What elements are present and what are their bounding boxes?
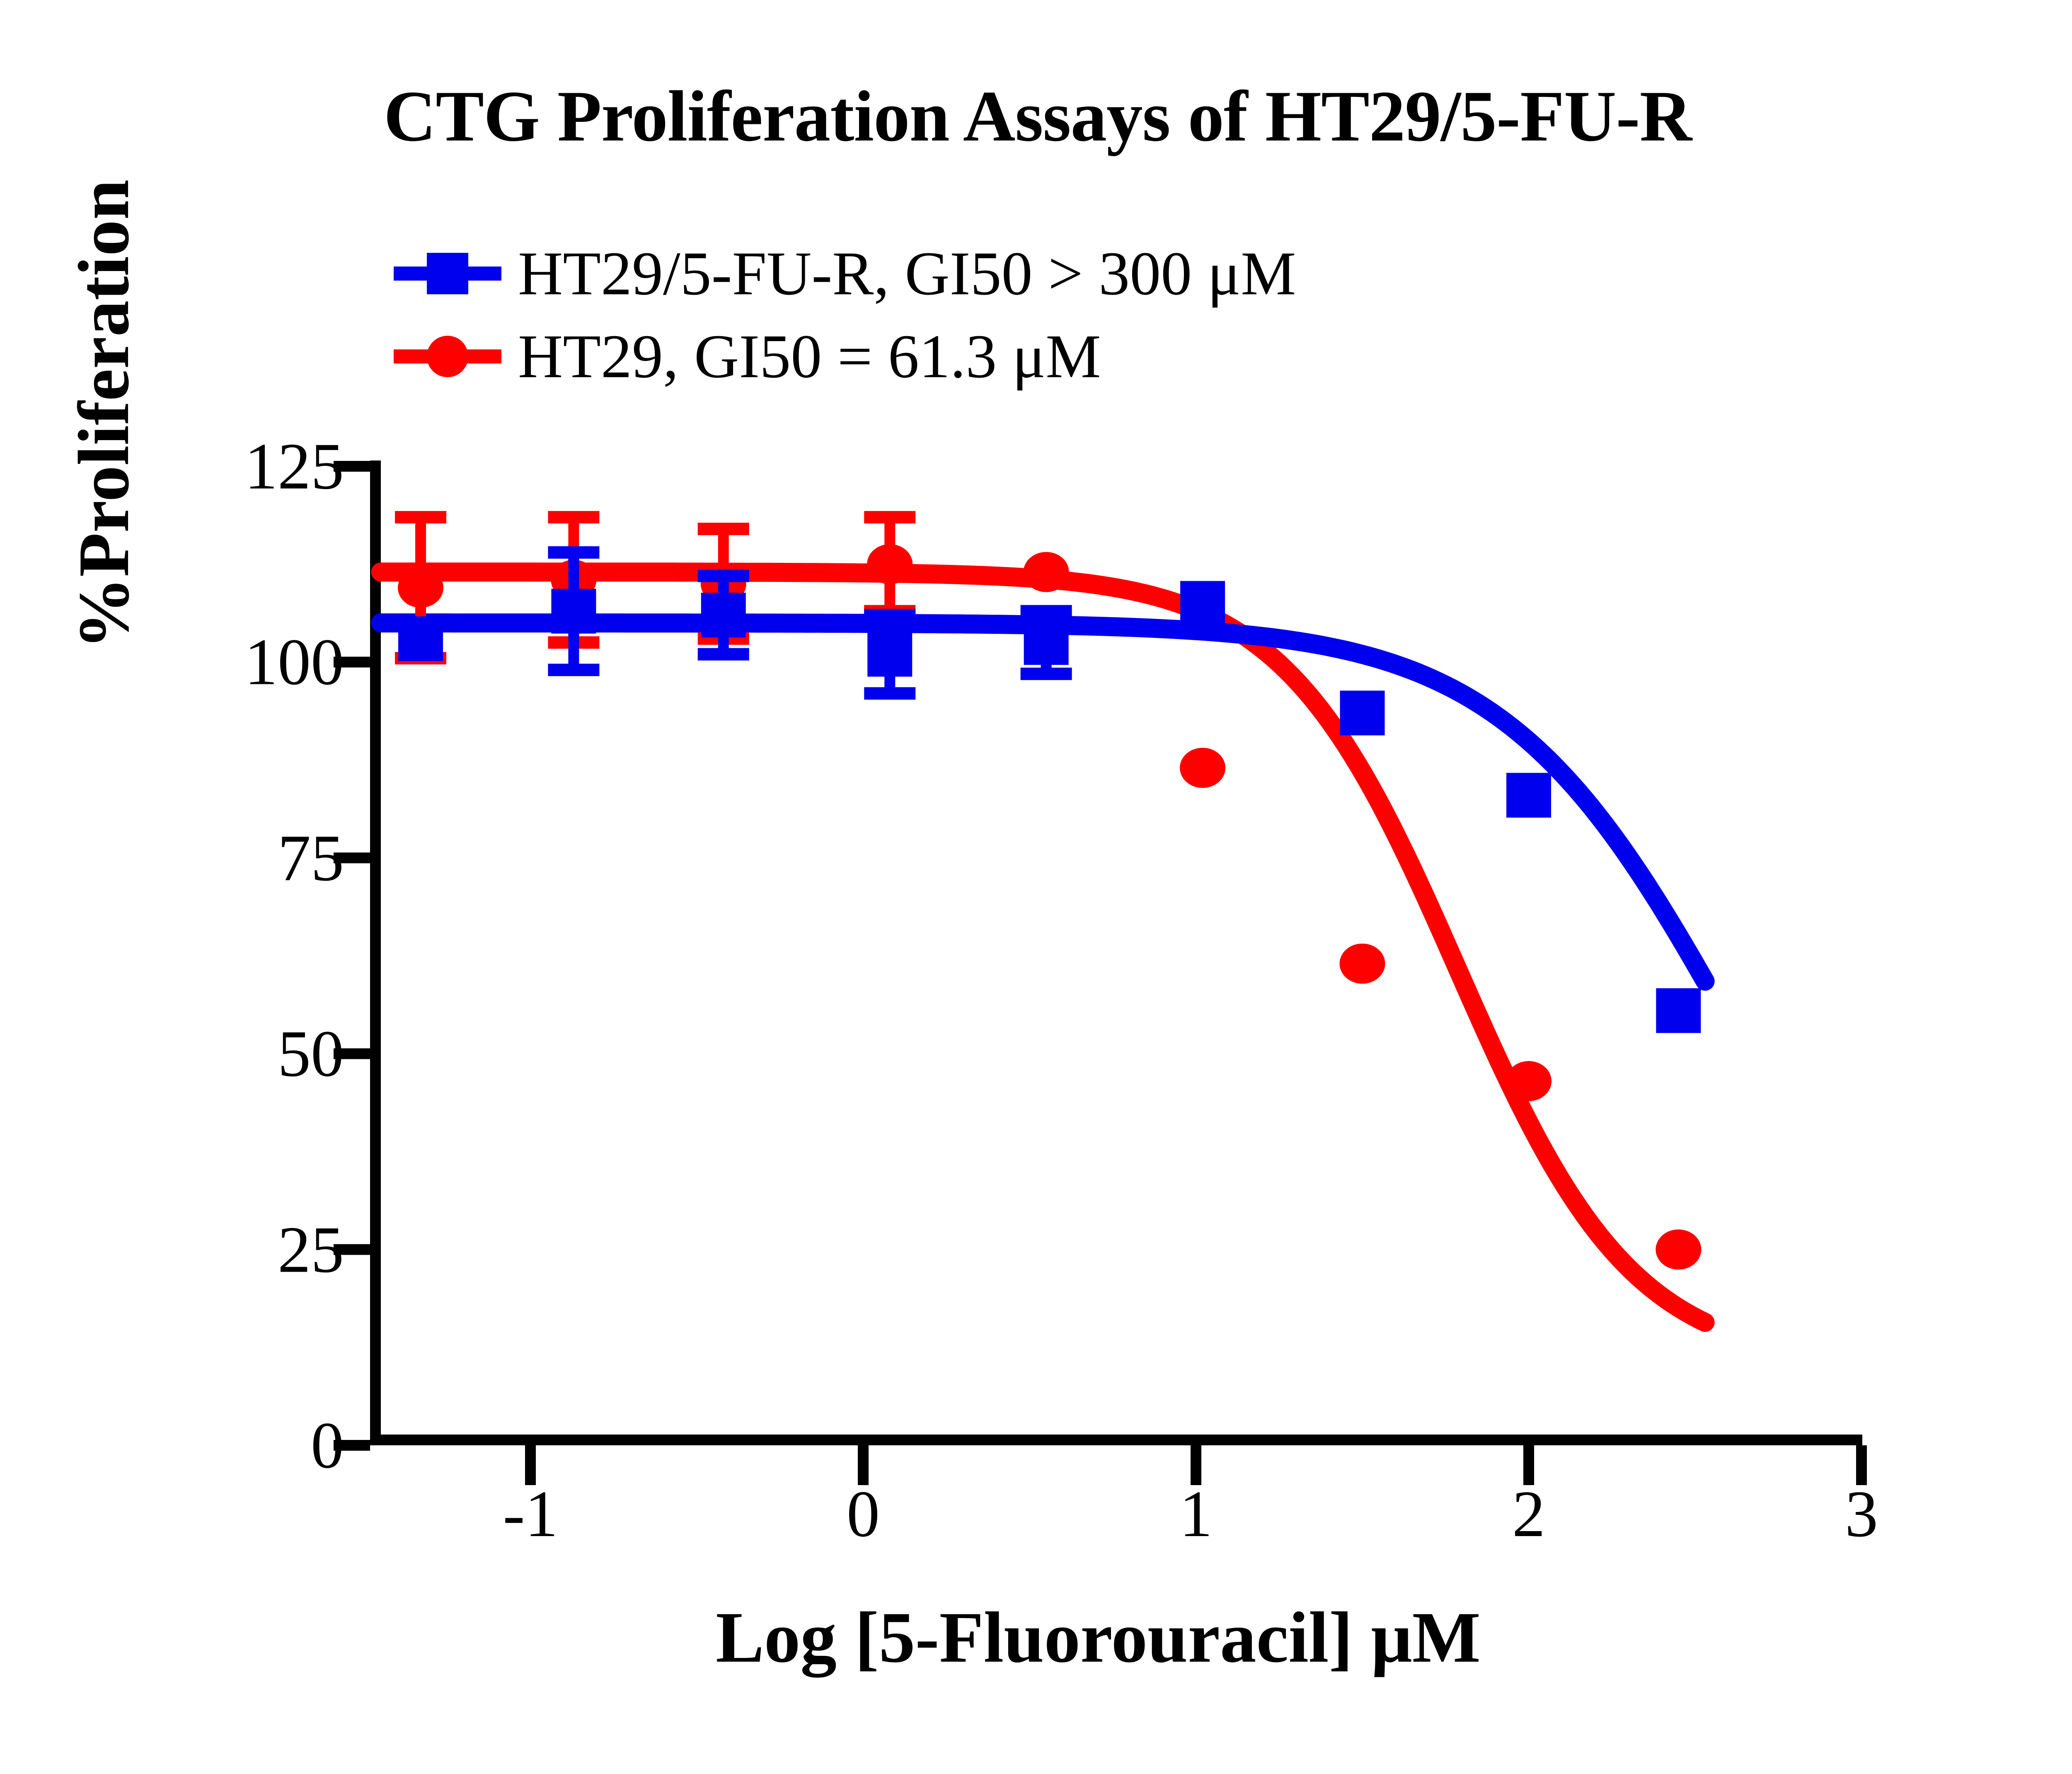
data-point-circle — [1180, 748, 1225, 788]
data-point-circle — [1656, 1229, 1701, 1270]
data-point-circle — [1340, 943, 1385, 984]
fit-curve-red — [381, 572, 1705, 1322]
data-point-square — [867, 632, 912, 677]
data-point-circle — [1024, 552, 1069, 592]
data-point-circle — [867, 544, 913, 584]
data-point-square — [1340, 691, 1385, 735]
data-point-square — [1180, 581, 1225, 626]
data-point-square — [398, 616, 443, 661]
data-point-square — [1024, 620, 1069, 665]
chart-figure: CTG Proliferation Assays of HT29/5-FU-R … — [0, 0, 2072, 1774]
data-point-square — [701, 593, 746, 637]
data-point-circle — [1506, 1061, 1552, 1101]
data-point-circle — [398, 567, 443, 608]
data-point-square — [1656, 988, 1701, 1033]
plot-area — [0, 0, 2072, 1774]
data-point-square — [551, 589, 596, 634]
data-point-square — [1506, 773, 1551, 818]
